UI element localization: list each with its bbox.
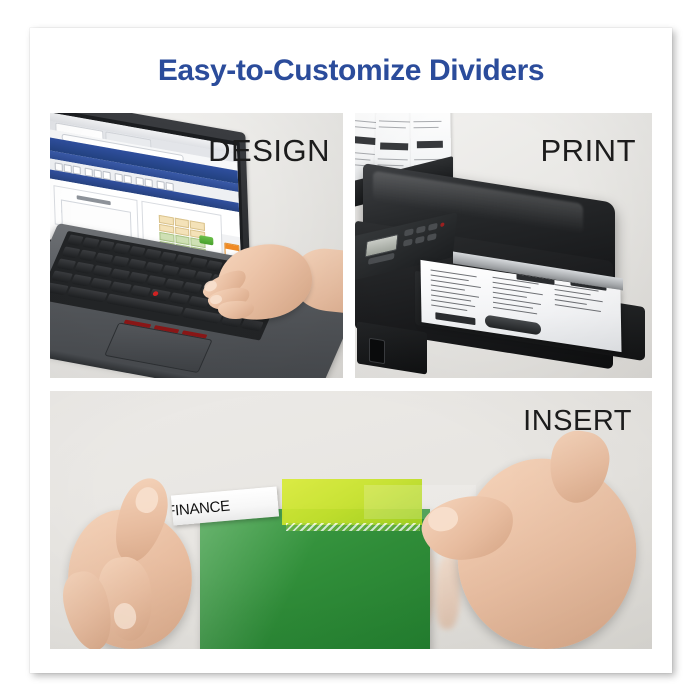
tab-stitched-seam — [286, 523, 420, 531]
control-button — [416, 226, 426, 234]
control-button — [415, 236, 425, 244]
page-title: Easy-to-Customize Dividers — [30, 54, 672, 88]
panel-label-design: DESIGN — [208, 133, 330, 169]
white-card: Easy-to-Customize Dividers — [30, 28, 672, 673]
panel-label-insert: INSERT — [523, 405, 632, 438]
right-hand — [402, 419, 652, 649]
product-feature-image: Easy-to-Customize Dividers — [0, 0, 700, 700]
control-button — [428, 223, 438, 231]
panel-print: PRINT — [355, 113, 652, 378]
panel-label-print: PRINT — [541, 133, 637, 169]
divider-tab — [282, 479, 422, 525]
power-indicator — [440, 222, 444, 227]
control-button — [427, 233, 437, 241]
control-button — [403, 239, 413, 247]
left-hand — [60, 453, 250, 649]
hand-on-trackpad — [182, 231, 343, 361]
panel-design: DESIGN — [50, 113, 343, 378]
panel-insert: FINANCE INSERT — [50, 391, 652, 649]
memory-card-slot — [369, 338, 385, 365]
control-button — [404, 228, 414, 236]
